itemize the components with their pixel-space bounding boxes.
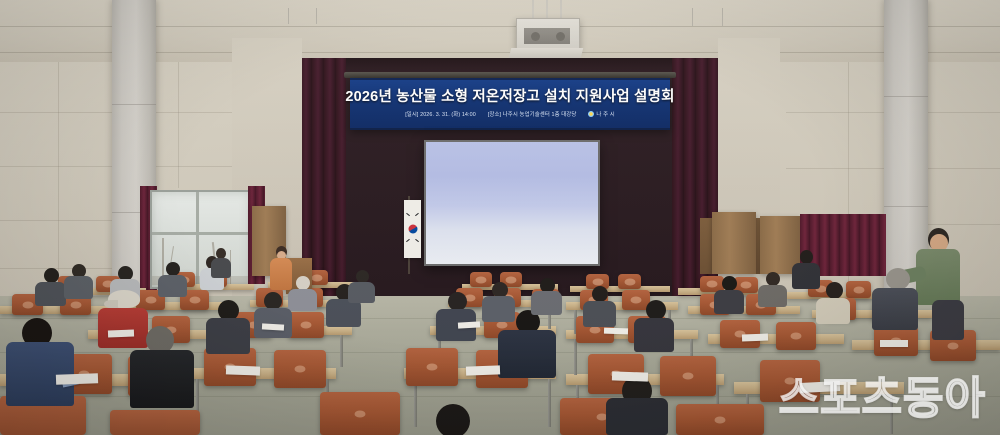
banner-date: [일시] 2026. 3. 31. (화) 14:00 [405,110,476,118]
projection-screen [426,142,598,264]
banner-title: 2026년 농산물 소형 저온저장고 설치 지원사업 설명회 [345,90,674,105]
chair [846,281,871,298]
projector-lens [556,32,565,41]
handout [800,381,840,393]
handout [466,365,500,375]
chair [676,404,764,435]
handout [226,365,260,375]
chair [660,356,716,396]
handout [108,330,134,338]
chair [274,350,326,388]
handout [742,334,768,342]
handout [458,321,480,328]
projector-rod [532,0,534,20]
chair [288,312,324,338]
banner-org: 나 주 시 [588,110,614,118]
back-door-left [712,212,756,274]
handout [880,340,908,347]
projection-screen-frame [424,140,600,266]
banner-subtitle: [일시] 2026. 3. 31. (화) 14:00 [장소] 나주시 농업기… [405,110,615,118]
banner-place: [장소] 나주시 농업기술센터 1층 대강당 [488,110,577,118]
city-emblem-icon [588,111,594,117]
chair [470,272,492,287]
handout [262,323,284,330]
chair [320,392,400,435]
projector-rod [560,0,562,20]
event-banner: 2026년 농산물 소형 저온저장고 설치 지원사업 설명회 [일시] 2026… [350,78,670,130]
projector-rod [546,0,548,20]
chair [760,360,820,402]
chair [618,274,641,289]
chair [110,410,200,435]
handout [612,371,648,381]
handout [56,373,98,384]
chair [776,322,816,350]
wall-seam [58,58,59,298]
korean-flag-icon [404,200,421,258]
banner-org-label: 나 주 시 [596,110,614,118]
wall-seam [178,58,179,188]
chair [406,348,458,386]
photo-scene: 2026년 농산물 소형 저온저장고 설치 지원사업 설명회 [일시] 2026… [0,0,1000,435]
projector-lens [531,32,540,41]
handout [604,328,628,335]
projector-plate [509,48,583,58]
